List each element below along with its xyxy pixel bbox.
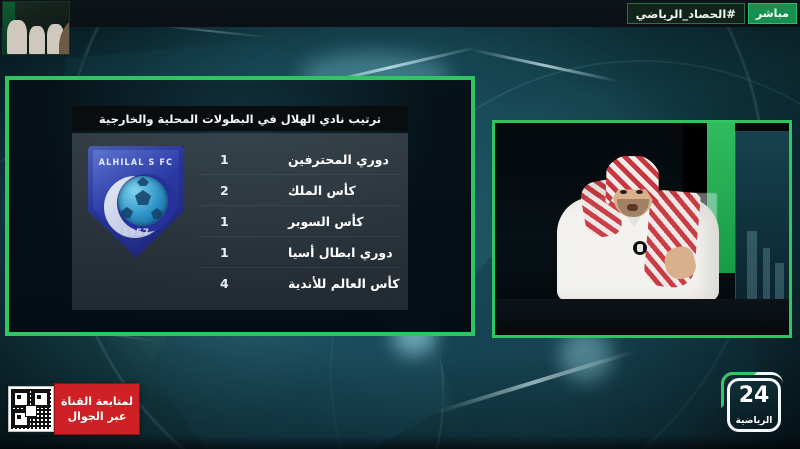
alhilal-crest-logo: ALHILAL S FC 1957 [88, 146, 184, 258]
football-icon [118, 176, 168, 226]
competition-label: كأس العالم للأندية [282, 276, 400, 291]
channel-number: 24 [727, 385, 781, 407]
studio-desk [495, 299, 792, 335]
stats-content-box: ALHILAL S FC 1957 دوري المحترفين 1 كأس ا… [72, 133, 408, 310]
competition-rows: دوري المحترفين 1 كأس الملك 2 كأس السوبر … [198, 144, 400, 298]
presenter-mouth [627, 204, 638, 211]
promo-text-block: لمتابعة القناة عبر الجوال [54, 383, 140, 435]
table-row: كأس العالم للأندية 4 [198, 268, 400, 298]
broadcast-screen: #الحصاد_الرياضي مباشر ترتيب نادي الهلال … [0, 0, 800, 449]
crest-top-text: ALHILAL S FC [88, 158, 184, 167]
channel-name: الرياضية [727, 416, 781, 426]
corner-thumbnail [2, 1, 70, 55]
top-bar-badges: #الحصاد_الرياضي مباشر [627, 3, 797, 24]
presenter-video-panel [492, 120, 792, 338]
top-bar: #الحصاد_الرياضي مباشر [0, 0, 800, 27]
promo-line-1: لمتابعة القناة [61, 394, 133, 409]
competition-label: دوري ابطال أسيا [282, 245, 400, 260]
live-badge: مباشر [748, 3, 797, 24]
table-row: دوري ابطال أسيا 1 [198, 237, 400, 268]
table-row: دوري المحترفين 1 [198, 144, 400, 175]
presenter-head [603, 155, 661, 221]
competition-value: 1 [198, 152, 282, 167]
lapel-mic-icon [633, 241, 647, 255]
competition-value: 2 [198, 183, 282, 198]
bottom-fade [0, 435, 800, 449]
stats-graphic-panel: ترتيب نادي الهلال في البطولات المحلية وا… [5, 76, 475, 336]
competition-value: 4 [198, 276, 282, 291]
mobile-promo-banner: لمتابعة القناة عبر الجوال [8, 383, 140, 435]
competition-value: 1 [198, 214, 282, 229]
competition-label: دوري المحترفين [282, 152, 400, 167]
qr-code-icon [8, 386, 54, 432]
table-row: كأس السوبر 1 [198, 206, 400, 237]
page-title: ترتيب نادي الهلال في البطولات المحلية وا… [99, 112, 381, 126]
hashtag-badge: #الحصاد_الرياضي [627, 3, 745, 24]
competition-value: 1 [198, 245, 282, 260]
graphic-title-bar: ترتيب نادي الهلال في البطولات المحلية وا… [72, 106, 408, 131]
table-row: كأس الملك 2 [198, 175, 400, 206]
promo-line-2: عبر الجوال [68, 409, 127, 424]
competition-label: كأس الملك [282, 183, 400, 198]
crest-year-text: 1957 [88, 228, 184, 238]
channel-logo-bug: 24 الرياضية [727, 378, 781, 432]
presenter [547, 149, 727, 301]
competition-label: كأس السوبر [282, 214, 400, 229]
